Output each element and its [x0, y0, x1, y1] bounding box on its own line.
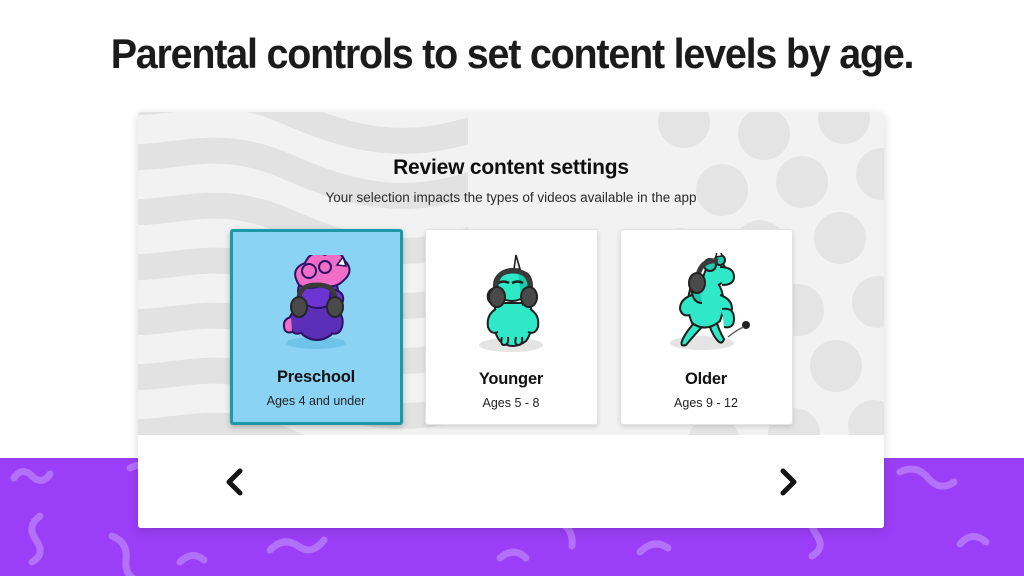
page-title: Parental controls to set content levels … [31, 30, 994, 78]
age-card-subtitle: Ages 5 - 8 [483, 396, 540, 410]
next-button[interactable] [768, 462, 808, 502]
age-card-older[interactable]: Older Ages 9 - 12 [620, 229, 793, 425]
back-button[interactable] [214, 462, 254, 502]
content-settings-dialog: Review content settings Your selection i… [138, 112, 884, 528]
age-card-title: Older [685, 370, 727, 389]
character-illustration-wrap [426, 230, 597, 370]
character-illustration-wrap [621, 230, 792, 370]
dialog-header: Review content settings Your selection i… [138, 112, 884, 205]
purple-unicorn-headphones-icon [273, 255, 359, 351]
age-card-preschool[interactable]: Preschool Ages 4 and under [230, 229, 403, 425]
age-card-title: Younger [479, 370, 543, 389]
teal-unicorn-standing-icon [658, 253, 754, 353]
age-card-list: Preschool Ages 4 and under [138, 229, 884, 425]
chevron-left-icon [223, 467, 245, 497]
chevron-right-icon [777, 467, 799, 497]
age-card-younger[interactable]: Younger Ages 5 - 8 [425, 229, 598, 425]
character-illustration-wrap [233, 232, 400, 368]
dialog-title: Review content settings [138, 156, 884, 180]
age-card-subtitle: Ages 9 - 12 [674, 396, 738, 410]
age-card-subtitle: Ages 4 and under [267, 394, 366, 408]
dialog-subtitle: Your selection impacts the types of vide… [138, 190, 884, 205]
teal-unicorn-headphones-icon [468, 253, 554, 353]
age-card-title: Preschool [277, 368, 355, 387]
dialog-footer [138, 435, 884, 528]
dialog-body: Review content settings Your selection i… [138, 112, 884, 435]
